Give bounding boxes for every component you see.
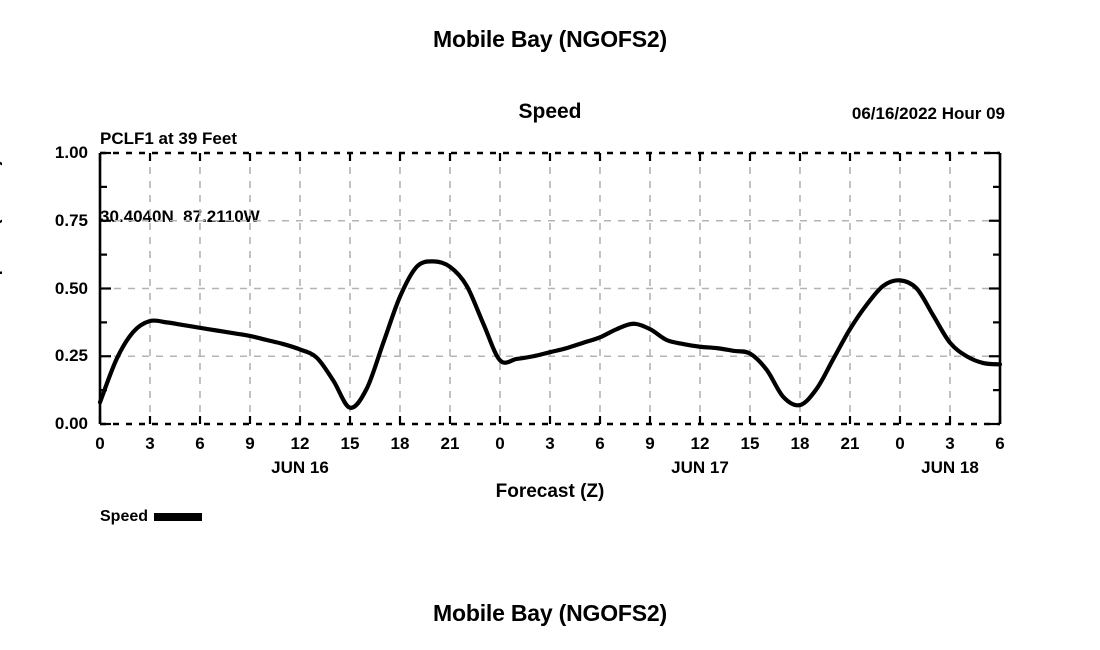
- y-tick-label: 1.00: [0, 143, 88, 163]
- x-tick-label: 3: [545, 434, 554, 454]
- station-name-depth: PCLF1 at 39 Feet: [100, 126, 260, 152]
- y-tick-label: 0.25: [0, 346, 88, 366]
- x-day-label: JUN 18: [921, 458, 979, 478]
- x-tick-label: 18: [791, 434, 810, 454]
- plot-area: [100, 153, 1000, 424]
- y-tick-label: 0.50: [0, 279, 88, 299]
- x-tick-label: 0: [495, 434, 504, 454]
- x-tick-label: 3: [945, 434, 954, 454]
- x-tick-label: 3: [145, 434, 154, 454]
- x-tick-label: 6: [195, 434, 204, 454]
- model-run-timestamp: 06/16/2022 Hour 09: [852, 104, 1005, 124]
- chart-title-top: Mobile Bay (NGOFS2): [0, 26, 1100, 53]
- legend-swatch-speed: [154, 513, 202, 521]
- chart-canvas: [100, 153, 1000, 424]
- x-tick-label: 18: [391, 434, 410, 454]
- x-tick-label: 12: [691, 434, 710, 454]
- x-axis-title: Forecast (Z): [100, 481, 1000, 503]
- x-tick-label: 9: [245, 434, 254, 454]
- legend: Speed: [100, 508, 202, 526]
- y-tick-label: 0.75: [0, 211, 88, 231]
- x-tick-label: 21: [841, 434, 860, 454]
- y-tick-label: 0.00: [0, 414, 88, 434]
- x-tick-label: 9: [645, 434, 654, 454]
- x-tick-label: 6: [595, 434, 604, 454]
- x-tick-label: 0: [95, 434, 104, 454]
- x-day-label: JUN 16: [271, 458, 329, 478]
- x-tick-label: 12: [291, 434, 310, 454]
- x-tick-label: 0: [895, 434, 904, 454]
- x-tick-label: 21: [441, 434, 460, 454]
- x-day-label: JUN 17: [671, 458, 729, 478]
- x-tick-label: 15: [341, 434, 360, 454]
- x-tick-label: 15: [741, 434, 760, 454]
- x-tick-label: 6: [995, 434, 1004, 454]
- chart-title-bottom: Mobile Bay (NGOFS2): [0, 600, 1100, 627]
- legend-label-speed: Speed: [100, 508, 148, 526]
